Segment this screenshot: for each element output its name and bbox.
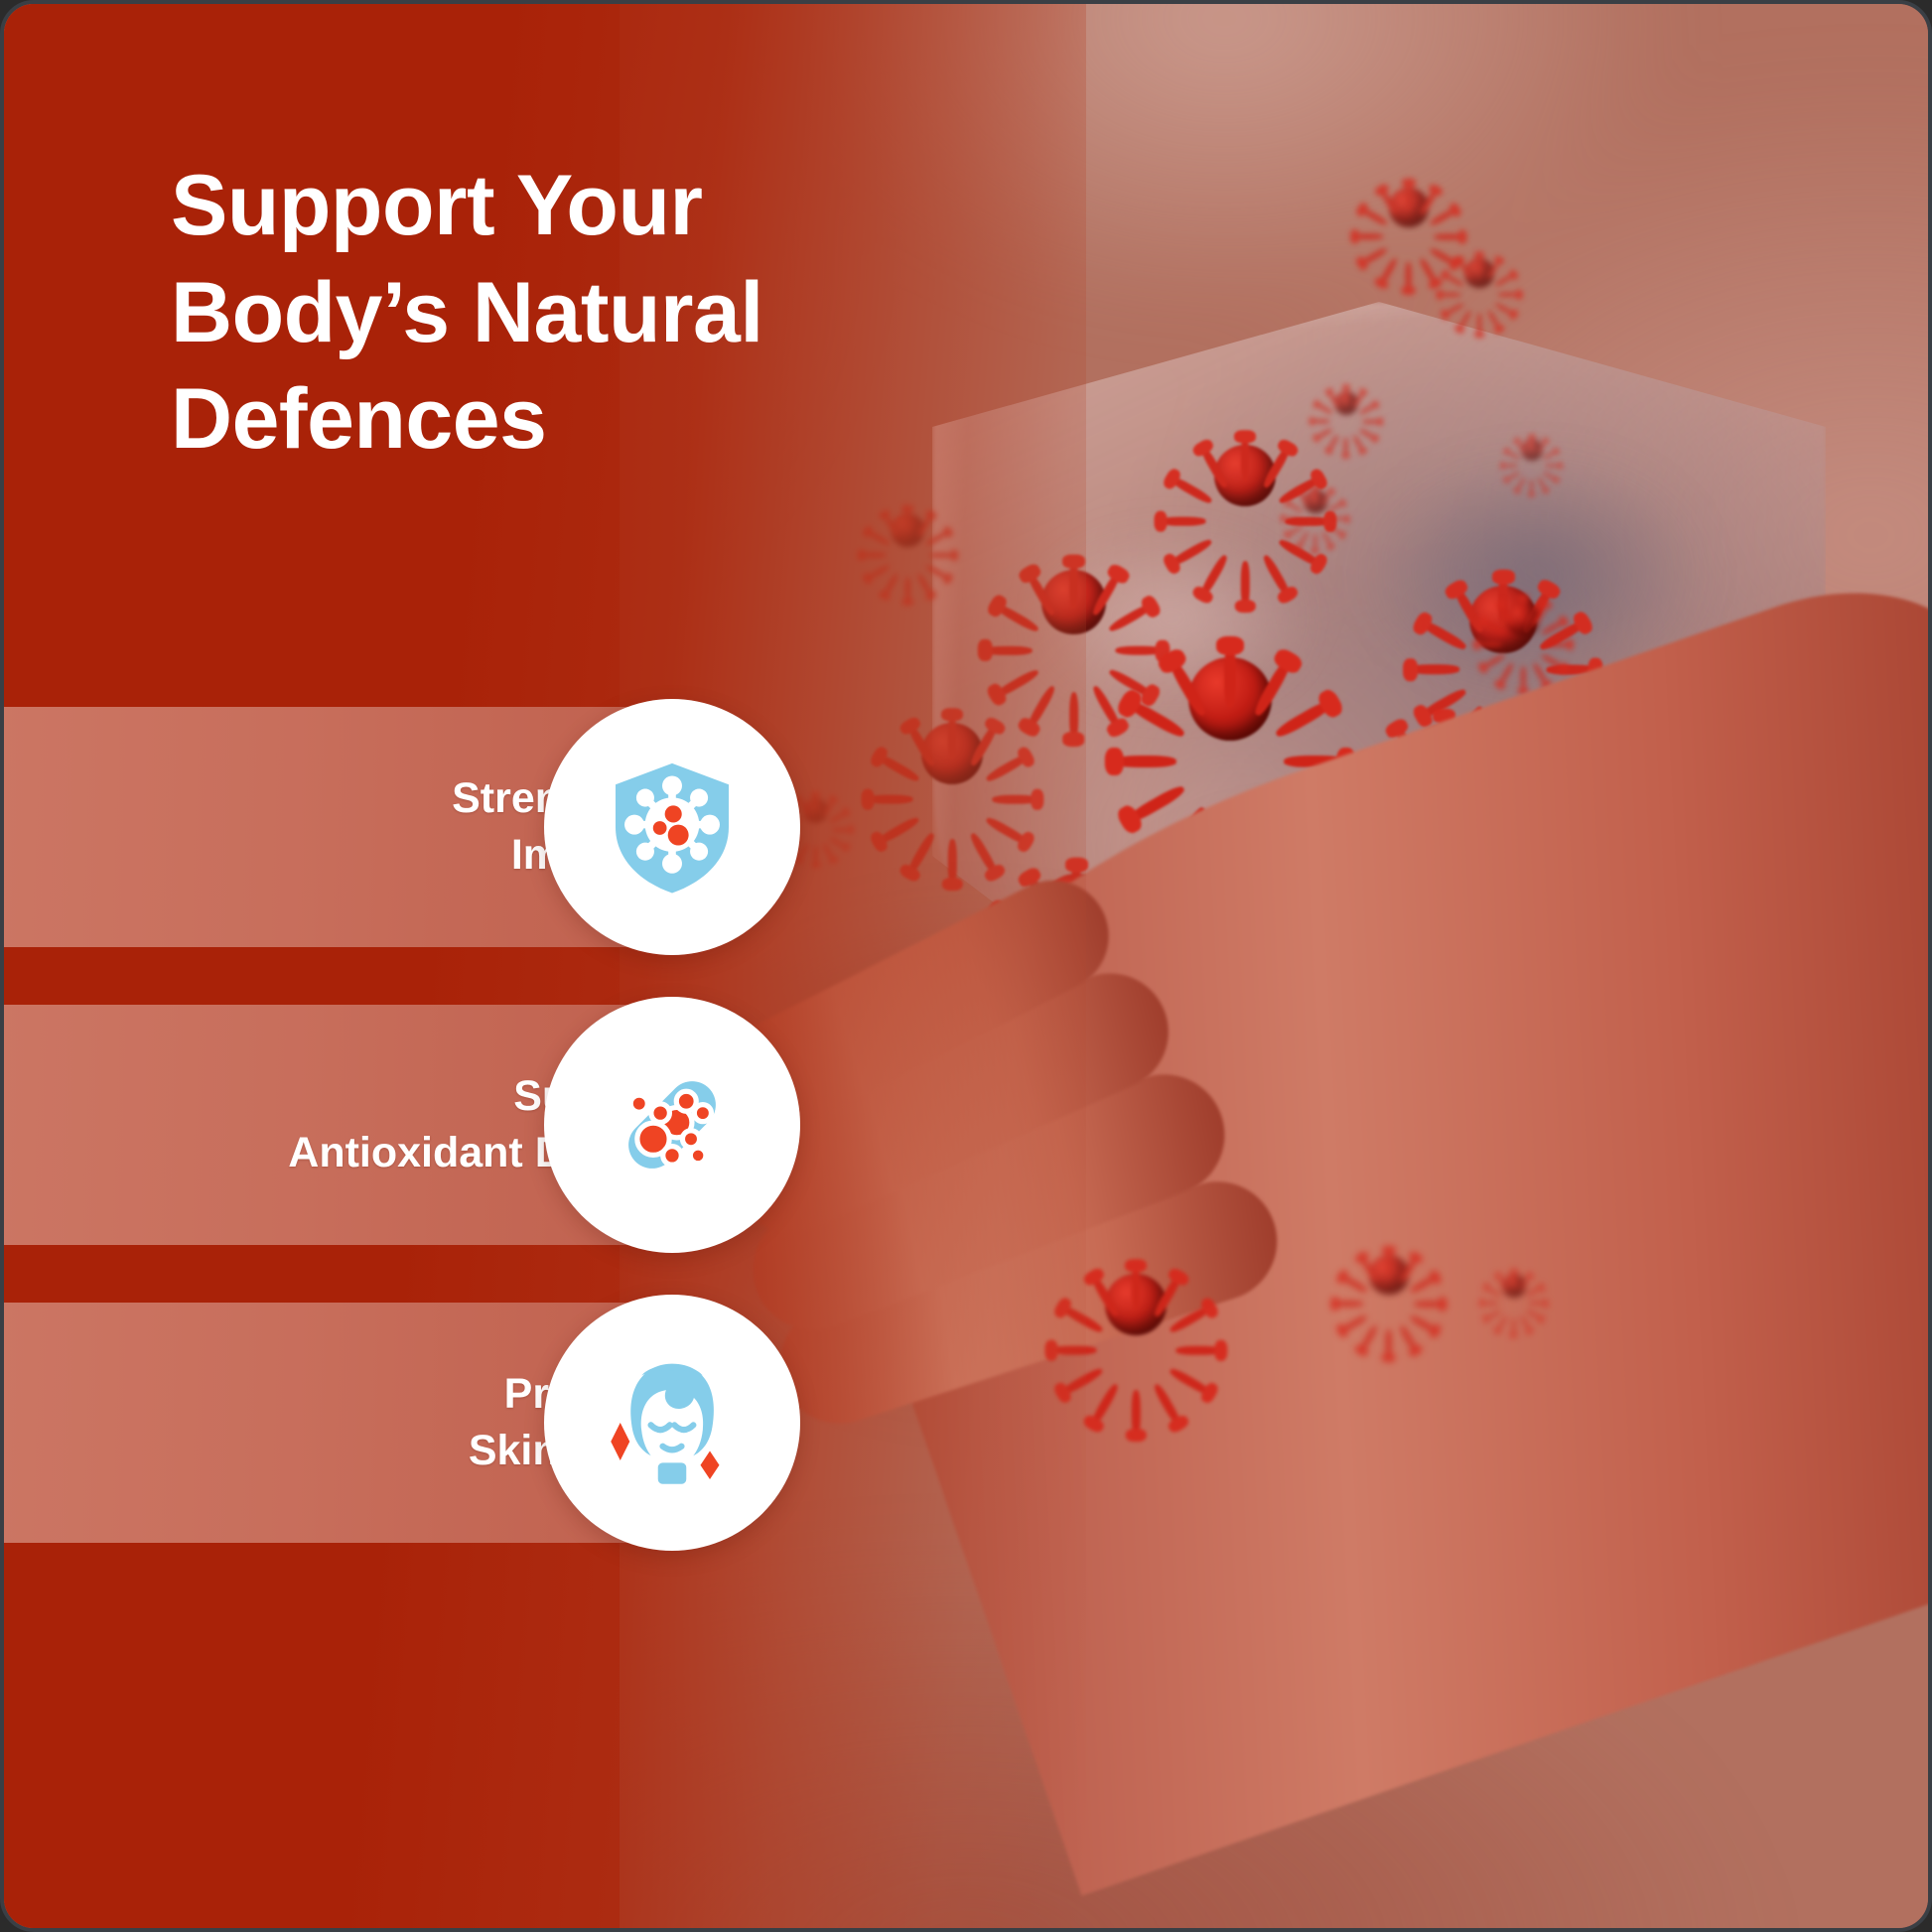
coronavirus-particle	[1513, 431, 1551, 469]
headline-line-2: Body’s Natural	[171, 260, 925, 367]
page-title: Support Your Body’s Natural Defences	[171, 153, 925, 474]
benefit-icon-circle-3	[544, 1295, 800, 1551]
headline-line-1: Support Your	[171, 153, 925, 260]
coronavirus-particle	[1354, 1240, 1424, 1310]
facial-skincare-icon	[597, 1347, 748, 1498]
coronavirus-particle	[1156, 624, 1305, 773]
benefit-item-2: Supports Antioxidant Defense	[4, 1005, 917, 1245]
capsule-molecule-icon	[597, 1049, 748, 1200]
coronavirus-particle	[1081, 1250, 1190, 1359]
coronavirus-particle	[1493, 1265, 1535, 1307]
shield-germ-icon	[597, 752, 748, 902]
benefit-icon-circle-2	[544, 997, 800, 1253]
promo-card: Support Your Body’s Natural Defences Str…	[0, 0, 1932, 1932]
coronavirus-particle	[1295, 481, 1336, 522]
coronavirus-particle	[1190, 421, 1300, 530]
benefit-list: Strengthens Immunity	[4, 707, 917, 1543]
benefit-item-3: Promotes Skin Health	[4, 1303, 917, 1543]
coronavirus-particle	[1374, 173, 1444, 242]
coronavirus-particle	[1453, 247, 1505, 299]
coronavirus-particle	[1324, 381, 1368, 425]
benefit-icon-circle-1	[544, 699, 800, 955]
coronavirus-particle	[1493, 590, 1553, 649]
headline-line-3: Defences	[171, 366, 925, 474]
benefit-item-1: Strengthens Immunity	[4, 707, 917, 947]
